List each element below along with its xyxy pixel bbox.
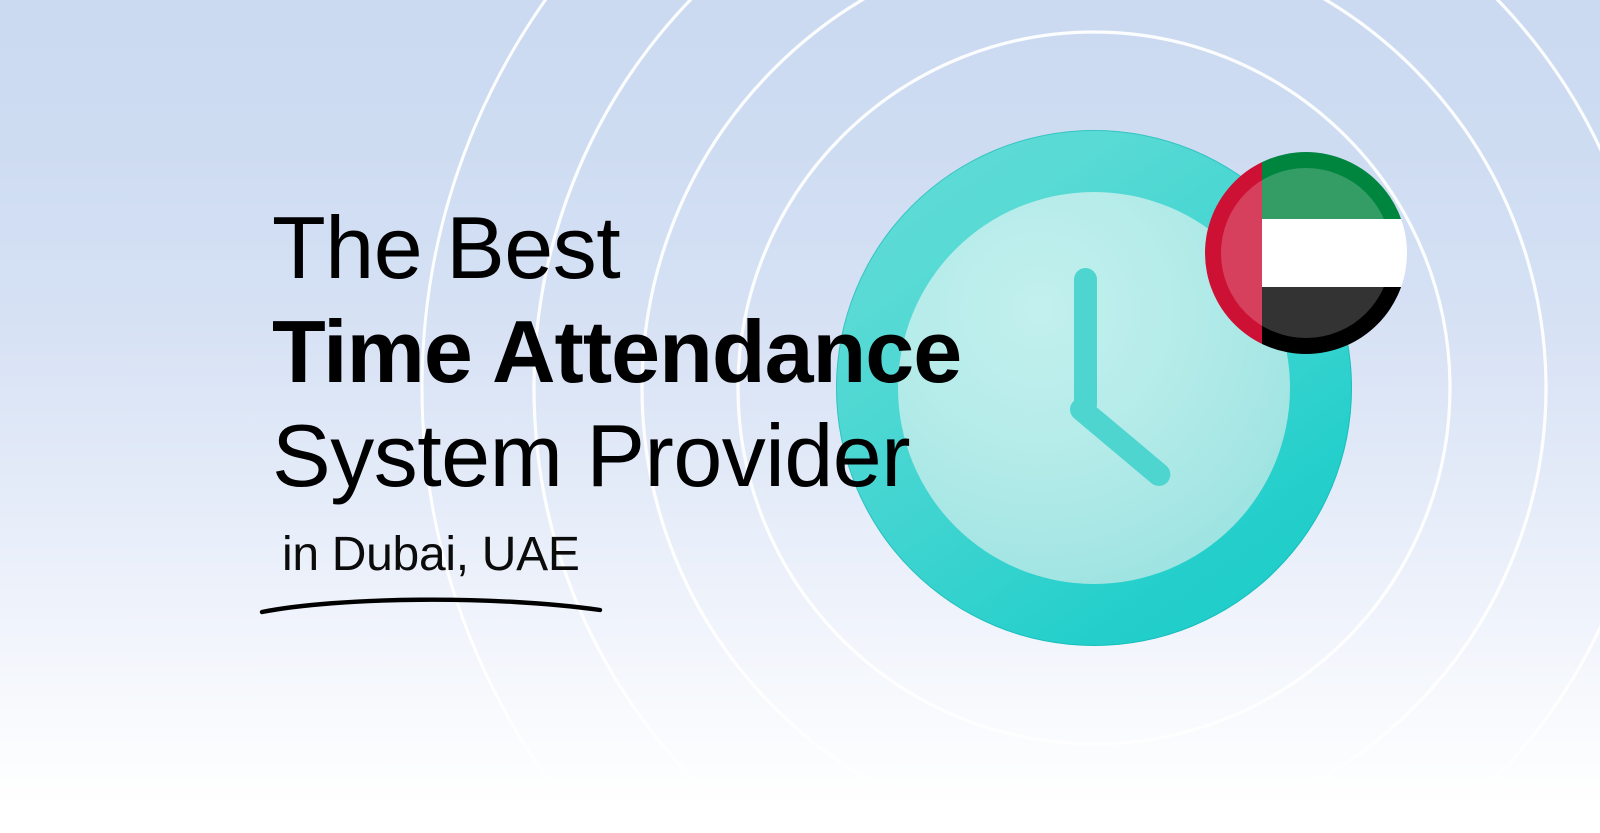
subheadline: in Dubai, UAE [282, 527, 580, 582]
flag-black-band [1262, 287, 1407, 354]
headline-line-1: The Best [272, 196, 1052, 300]
uae-flag-icon [1205, 152, 1407, 354]
headline-line-2: Time Attendance [272, 300, 1052, 404]
flag-white-band [1262, 219, 1407, 286]
underline-swoosh-icon [258, 586, 604, 620]
headline-block: The Best Time Attendance System Provider [272, 196, 1052, 508]
clock-hour-hand [1074, 268, 1097, 416]
flag-green-band [1262, 152, 1407, 219]
flag-horizontal-bands [1262, 152, 1407, 354]
headline-line-3: System Provider [272, 404, 1052, 508]
hero-banner: The Best Time Attendance System Provider… [0, 0, 1600, 833]
